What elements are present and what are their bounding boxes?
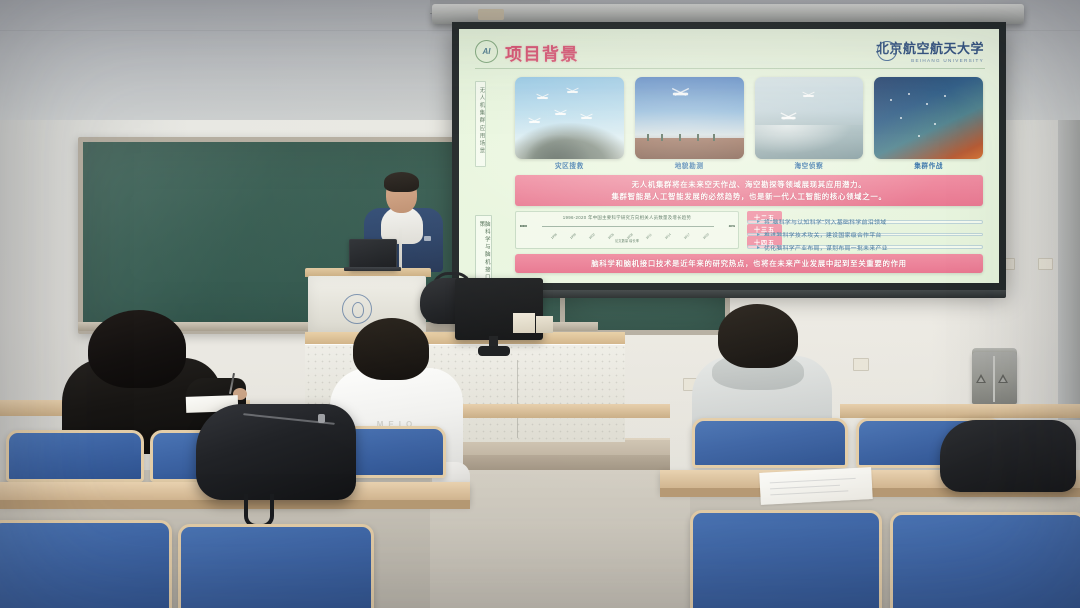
policy-body-14th: ▸ 优化脑科学产业布局，谋划布局一批未来产业	[747, 245, 983, 249]
student-center-head	[353, 318, 429, 380]
ai-badge-icon: AI	[475, 40, 498, 63]
policy-text-14th: 优化脑科学产业布局，谋划布局一批未来产业	[764, 243, 888, 252]
caption-sea-air-reconnaissance: 海空侦察	[755, 160, 864, 172]
caption-terrain-survey: 地貌勘测	[635, 160, 744, 172]
thumbnail-sea-air-reconnaissance	[755, 77, 864, 159]
slide-header: AI 项目背景 北京航空航天大学 BEIHANG UNIVERSITY	[475, 38, 985, 68]
slide-surface: AI 项目背景 北京航空航天大学 BEIHANG UNIVERSITY 无人机集…	[459, 29, 999, 283]
chart-panel: 1996-2020 年中国主要科学研究方向相关人员数量及增长趋势 6000 50…	[515, 211, 739, 249]
thumbnail-strip	[515, 77, 983, 159]
policy-item-12th: 十二五 ▸ 将“脑科学与认知科学”列入基础科学前沿领域	[747, 211, 983, 224]
banner-top-line-2: 集群智能是人工智能发展的必然趋势，也是新一代人工智能的核心领域之一。	[611, 191, 886, 203]
policy-list: 十二五 ▸ 将“脑科学与认知科学”列入基础科学前沿领域 十三五 ▸ 推进脑科学技…	[747, 211, 983, 249]
recycle-bin	[972, 352, 1017, 404]
presenter-jacket-logo	[424, 236, 431, 241]
roller-cap-left	[478, 9, 504, 20]
laptop-keyboard[interactable]	[344, 267, 401, 271]
cardboard-box-small	[536, 316, 553, 333]
chair-front-right[interactable]	[690, 510, 882, 608]
header-divider	[475, 68, 985, 69]
wall-outlet-right-a	[853, 358, 869, 371]
screen-roller[interactable]	[432, 4, 1024, 24]
door-frame-right	[1058, 120, 1080, 420]
chair-front-far-right[interactable]	[890, 512, 1080, 608]
university-name: 北京航空航天大学 BEIHANG UNIVERSITY	[876, 38, 984, 63]
caption-swarm-operations: 集群作战	[874, 160, 983, 172]
chart-plot-area: 6000 5000 4000 3000 2000 1000 0 60% 40% …	[542, 226, 714, 227]
laptop-screen[interactable]	[349, 239, 397, 270]
university-name-en: BEIHANG UNIVERSITY	[876, 58, 984, 63]
recycle-icon-right	[998, 374, 1009, 384]
student-left-head	[88, 310, 186, 388]
counter-panel-seam-2	[517, 360, 518, 438]
projection-screen[interactable]: AI 项目背景 北京航空航天大学 BEIHANG UNIVERSITY 无人机集…	[452, 22, 1006, 290]
monitor-base	[478, 346, 510, 356]
paper-sheet-right	[759, 467, 873, 505]
thumbnail-terrain-survey	[635, 77, 744, 159]
desk-front-left-edge	[0, 500, 470, 509]
banner-top-line-1: 无人机集群将在未来空天作战、海空勘探等领域展现其应用潜力。	[632, 179, 867, 191]
lectern-university-emblem-icon	[342, 294, 372, 324]
chair-front-left[interactable]	[0, 520, 172, 608]
policy-item-14th: 十四五 ▸ 优化脑科学产业布局，谋划布局一批未来产业	[747, 236, 983, 249]
chart-ytick-6: 0	[520, 224, 522, 228]
thumbnail-swarm-operations	[874, 77, 983, 159]
chart-title: 1996-2020 年中国主要科学研究方向相关人员数量及增长趋势	[516, 215, 738, 221]
desk-row-mid-center	[430, 404, 670, 418]
backpack-strap	[244, 494, 274, 528]
chair-front-center[interactable]	[178, 524, 374, 608]
wall-outlet-right-c	[1038, 258, 1053, 270]
backpack-zipper-pull	[318, 414, 325, 423]
desk-row-mid-right	[840, 404, 1080, 418]
student-right-head	[718, 304, 798, 368]
chart-y2tick-6: 0%	[731, 224, 735, 228]
policy-item-13th: 十三五 ▸ 推进脑科学技术攻关，建设国家级合作平台	[747, 224, 983, 237]
thumbnail-captions: 灾区搜救 地貌勘测 海空侦察 集群作战	[515, 160, 983, 172]
chair-mid-left[interactable]	[6, 430, 144, 482]
thumbnail-disaster-search-rescue	[515, 77, 624, 159]
presenter-zipper	[399, 228, 402, 270]
banner-uav-swarm: 无人机集群将在未来空天作战、海空勘探等领域展现其应用潜力。 集群智能是人工智能发…	[515, 175, 983, 206]
chair-mid-right[interactable]	[692, 418, 848, 468]
caption-disaster-search-rescue: 灾区搜救	[515, 160, 624, 172]
university-name-cn: 北京航空航天大学	[876, 38, 984, 57]
side-label-policy: 脑科学与脑机接口政策	[475, 215, 492, 283]
slide-title: 项目背景	[505, 40, 579, 65]
classroom-scene: AI 项目背景 北京航空航天大学 BEIHANG UNIVERSITY 无人机集…	[0, 0, 1080, 608]
recycle-icon-left	[976, 374, 987, 384]
banner-bottom-line-1: 脑科学和脑机接口技术是近年来的研究热点，也将在未来产业发展中起到至关重要的作用	[591, 258, 907, 270]
side-label-applications: 无人机集群应用场景	[475, 81, 486, 167]
cardboard-box-large	[513, 313, 535, 333]
chevron-right-icon: ▸	[757, 244, 760, 251]
chart-legend: 论文数量 增长率	[516, 238, 738, 243]
banner-brain-science: 脑科学和脑机接口技术是近年来的研究热点，也将在未来产业发展中起到至关重要的作用	[515, 254, 983, 273]
presenter-hair	[384, 172, 419, 192]
backpack-right	[940, 420, 1076, 492]
